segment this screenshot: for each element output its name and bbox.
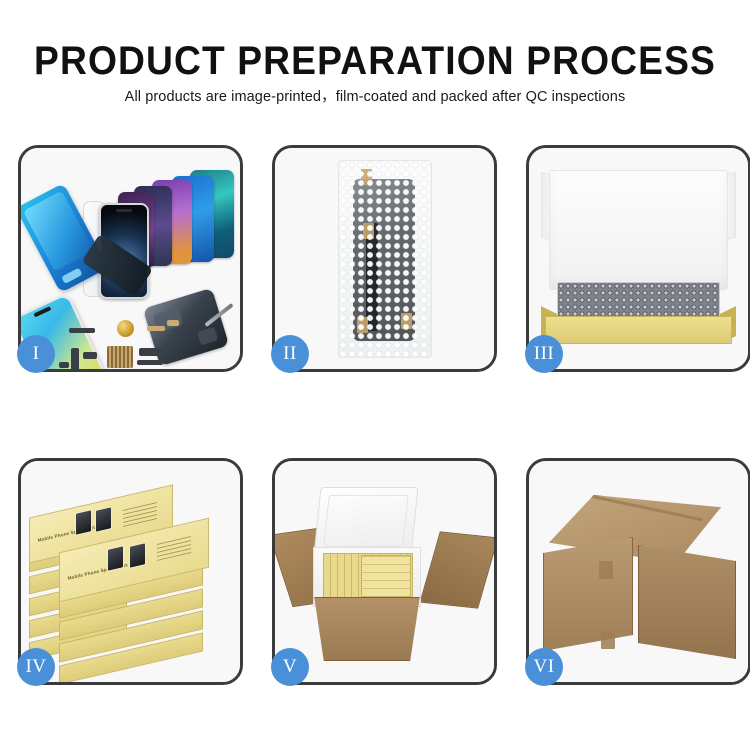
spare-part	[69, 328, 95, 333]
step-2-image	[275, 148, 494, 369]
carton-front-panel	[307, 597, 427, 661]
step-badge-1: I	[17, 335, 55, 373]
process-step-panel-4: Mobile Phone Spare Parts Mobile Phone Sp…	[18, 458, 243, 685]
spare-part	[71, 348, 79, 369]
open-mailer-box	[541, 170, 736, 341]
step-badge-2: II	[271, 335, 309, 373]
foam-lid	[313, 487, 418, 555]
box-front-panel	[545, 316, 732, 344]
lid-phone-image	[129, 542, 146, 569]
step-4-image: Mobile Phone Spare Parts Mobile Phone Sp…	[21, 461, 240, 682]
step-badge-3: III	[525, 335, 563, 373]
lid-phone-image	[107, 545, 124, 572]
step-badge-6: VI	[525, 648, 563, 686]
spare-part	[59, 362, 69, 368]
spare-part	[147, 326, 165, 331]
carton-right-panel	[638, 545, 736, 659]
retail-box-stack: Mobile Phone Spare Parts Mobile Phone Sp…	[27, 479, 234, 668]
foam-lid	[549, 170, 728, 290]
sealed-shipping-carton	[543, 495, 736, 660]
process-step-grid: I II	[18, 145, 732, 731]
process-step-panel-1: I	[18, 145, 243, 372]
shield-mesh-part	[107, 346, 133, 368]
open-shipping-carton	[283, 485, 486, 662]
bubble-wrap-bag	[338, 160, 432, 358]
flex-cable-part	[137, 360, 163, 365]
carton-tab	[599, 561, 613, 579]
process-step-panel-3: III	[526, 145, 750, 372]
step-5-image	[275, 461, 494, 682]
step-badge-5: V	[271, 648, 309, 686]
step-6-image	[529, 461, 748, 682]
speaker-coil-part	[117, 320, 134, 337]
flex-cable-part	[139, 348, 161, 356]
bubble-texture	[339, 161, 431, 357]
carton-tab	[601, 631, 615, 649]
spare-part	[167, 320, 179, 326]
process-step-panel-5: V	[272, 458, 497, 685]
product-preparation-infographic: PRODUCT PREPARATION PROCESS All products…	[0, 0, 750, 750]
page-subtitle: All products are image-printed，film-coat…	[0, 88, 750, 106]
packed-retail-boxes	[361, 555, 411, 597]
spare-part	[83, 352, 97, 359]
process-step-panel-2: II	[272, 145, 497, 372]
step-badge-4: IV	[17, 648, 55, 686]
step-3-image	[529, 148, 748, 369]
process-step-panel-6: VI	[526, 458, 750, 685]
carton-flap-right	[420, 531, 494, 608]
step-1-image	[21, 148, 240, 369]
bubble-wrap-insert	[557, 282, 720, 320]
carton-seam	[585, 494, 703, 522]
carton-left-panel	[543, 537, 633, 651]
lid-phone-image	[95, 506, 112, 533]
page-title: PRODUCT PREPARATION PROCESS	[26, 40, 724, 82]
lid-phone-image	[75, 509, 92, 536]
